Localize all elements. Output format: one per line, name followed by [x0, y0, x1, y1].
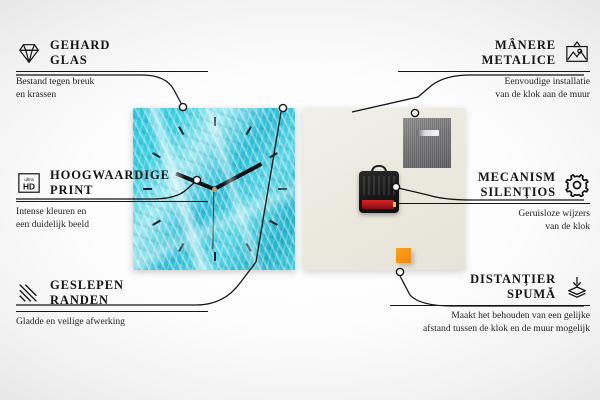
- foam-spacer: [396, 248, 411, 263]
- feature-divider: [390, 305, 590, 306]
- feature-desc-line1: Intense kleuren en: [16, 206, 208, 218]
- feature-desc-line2: van de klok aan de muur: [398, 89, 590, 101]
- svg-text:HD: HD: [23, 181, 35, 191]
- clock-center-pivot: [212, 187, 217, 192]
- infographic-stage: GEHARD GLAS Bestand tegen breuk en krass…: [0, 0, 600, 400]
- feature-header: ultra HD HOOGWAARDIGE PRINT: [16, 168, 208, 198]
- feature-foam-spacer[interactable]: DISTANŢIER SPUMĂ Maakt het behouden van …: [390, 272, 590, 335]
- stack-down-icon: [564, 275, 590, 299]
- clock-tick: [269, 220, 278, 226]
- clock-tick: [246, 243, 252, 252]
- feature-desc-line2: afstand tussen de klok en de muur mogeli…: [390, 323, 590, 335]
- clock-tick: [214, 117, 216, 126]
- picture-frame-icon: [564, 41, 590, 65]
- feature-header: DISTANŢIER SPUMĂ: [390, 272, 590, 302]
- feature-title-line1: MÂNERE: [482, 38, 556, 53]
- feature-header: MÂNERE METALICE: [398, 38, 590, 68]
- clock-tick: [152, 152, 161, 158]
- feature-title-line1: HOOGWAARDIGE: [50, 168, 170, 183]
- mechanism-hook: [371, 165, 387, 175]
- bevel-lines-icon: [16, 281, 42, 305]
- mechanism-grill: [363, 176, 395, 195]
- battery: [362, 200, 394, 209]
- feature-title-line1: DISTANŢIER: [470, 272, 556, 287]
- feature-header: GEHARD GLAS: [16, 38, 208, 68]
- feature-divider: [16, 311, 208, 312]
- feature-polished-edges[interactable]: GESLEPEN RANDEN Gladde en veilige afwerk…: [16, 278, 208, 329]
- clock-tick: [214, 252, 216, 261]
- feature-title-line2: RANDEN: [50, 293, 124, 308]
- feature-title-line2: SPUMĂ: [470, 287, 556, 302]
- feature-title-line1: GESLEPEN: [50, 278, 124, 293]
- feature-metal-handles[interactable]: MÂNERE METALICE Eenvoudige installatie v…: [398, 38, 590, 101]
- ultra-hd-icon: ultra HD: [16, 171, 42, 195]
- feature-title-line1: GEHARD: [50, 38, 110, 53]
- feature-header: MECANISM SILENŢIOS: [398, 170, 590, 200]
- gear-icon: [564, 173, 590, 197]
- clock-tick: [278, 188, 287, 190]
- feature-desc-line2: een duidelijk beeld: [16, 219, 208, 231]
- feature-high-quality-print[interactable]: ultra HD HOOGWAARDIGE PRINT Intense kleu…: [16, 168, 208, 231]
- hanger-slot: [417, 130, 439, 136]
- feature-desc-line2: en krassen: [16, 89, 208, 101]
- feature-title-line2: GLAS: [50, 53, 110, 68]
- feature-desc-line2: van de klok: [398, 221, 590, 233]
- clock-tick: [246, 126, 252, 135]
- clock-minute-hand: [213, 162, 262, 190]
- clock-second-hand: [212, 189, 214, 249]
- feature-tempered-glass[interactable]: GEHARD GLAS Bestand tegen breuk en krass…: [16, 38, 208, 101]
- metal-hanger: [403, 118, 451, 168]
- feature-silent-mechanism[interactable]: MECANISM SILENŢIOS Geruisloze wijzers va…: [398, 170, 590, 233]
- feature-desc-line1: Gladde en veilige afwerking: [16, 316, 208, 328]
- feature-divider: [398, 71, 590, 72]
- clock-tick: [178, 243, 184, 252]
- diamond-icon: [16, 41, 42, 65]
- clock-mechanism: [359, 171, 399, 213]
- feature-desc-line1: Bestand tegen breuk: [16, 76, 208, 88]
- feature-desc-line1: Geruisloze wijzers: [398, 208, 590, 220]
- feature-title-line2: SILENŢIOS: [478, 185, 556, 200]
- feature-header: GESLEPEN RANDEN: [16, 278, 208, 308]
- feature-desc-line1: Maakt het behouden van een gelijke: [390, 310, 590, 322]
- feature-title-line2: METALICE: [482, 53, 556, 68]
- feature-divider: [16, 201, 208, 202]
- feature-desc-line1: Eenvoudige installatie: [398, 76, 590, 88]
- feature-title-line1: MECANISM: [478, 170, 556, 185]
- feature-title-line2: PRINT: [50, 183, 170, 198]
- feature-divider: [16, 71, 208, 72]
- feature-divider: [398, 203, 590, 204]
- clock-tick: [178, 126, 184, 135]
- clock-tick: [269, 152, 278, 158]
